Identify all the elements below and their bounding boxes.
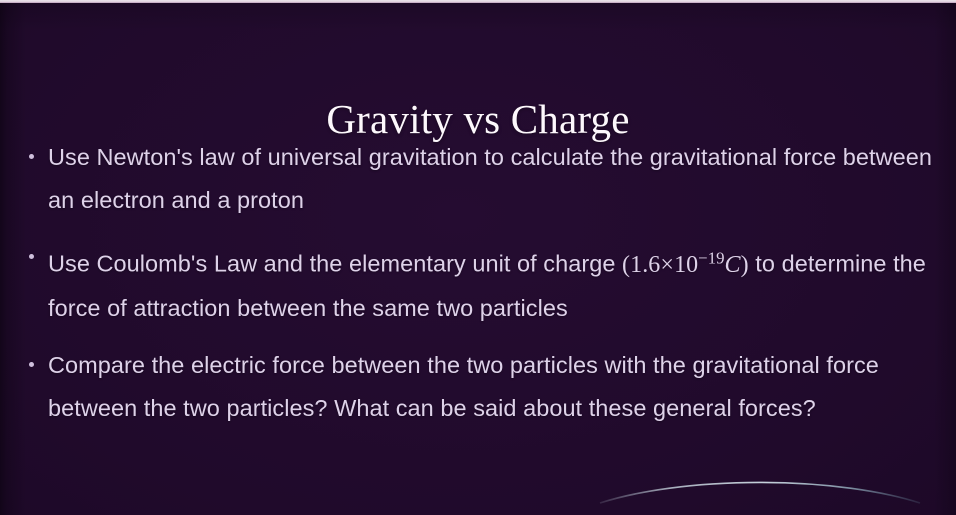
slide-canvas: Gravity vs Charge Use Newton's law of un… [0,0,956,515]
math-base: 10 [674,252,698,278]
math-mantissa: 1.6 [630,252,660,278]
bullet-dot-icon [29,362,34,367]
list-item: Use Coulomb's Law and the elementary uni… [26,236,932,330]
list-item: Compare the electric force between the t… [26,344,932,430]
bullet-text-before-math: Use Coulomb's Law and the elementary uni… [48,251,622,277]
top-edge-strip [0,0,956,3]
math-unit-coulomb: C [725,252,741,278]
list-item: Use Newton's law of universal gravitatio… [26,136,932,222]
circle-outline-arc-icon [560,462,956,515]
bullet-text: Use Newton's law of universal gravitatio… [48,144,932,213]
math-open-paren: ( [622,252,630,278]
math-times-sign: × [660,252,674,278]
bullet-dot-icon [29,154,34,159]
math-close-paren: ) [741,252,749,278]
math-exponent: −19 [698,248,724,267]
bullet-text: Compare the electric force between the t… [48,352,879,421]
bullet-dot-icon [29,254,34,259]
bullet-list: Use Newton's law of universal gravitatio… [26,136,932,430]
math-expression-elementary-charge: (1.6×10−19C) [622,252,749,278]
